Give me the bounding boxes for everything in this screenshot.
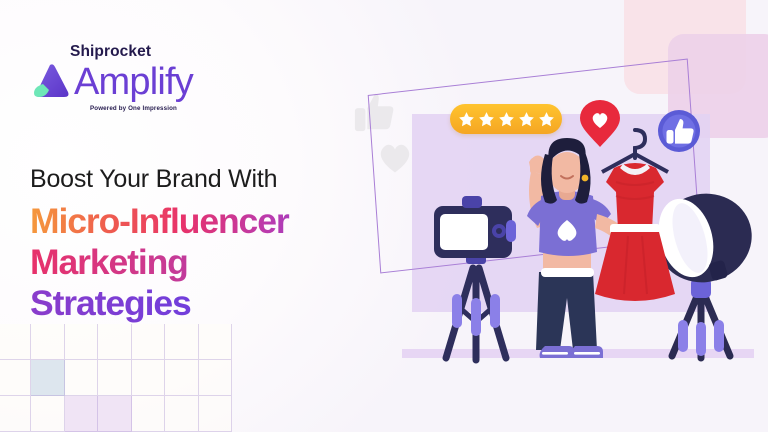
amplify-triangle-mark-icon xyxy=(30,62,72,102)
brand-logo[interactable]: Shiprocket Amplify Powered by One Impres… xyxy=(30,44,220,112)
grid-cell xyxy=(65,360,98,396)
grid-cell xyxy=(98,360,131,396)
headline-line-1: Boost Your Brand With xyxy=(30,165,375,195)
star-icon xyxy=(498,111,515,128)
grid-cell xyxy=(199,396,232,432)
star-icon xyxy=(478,111,495,128)
grid-cell xyxy=(65,324,98,360)
heart-pin-icon xyxy=(580,100,620,148)
grid-cell xyxy=(31,396,64,432)
grid-cell xyxy=(0,396,31,432)
star-icon xyxy=(518,111,535,128)
grid-cell xyxy=(132,396,165,432)
marketing-banner: Shiprocket Amplify Powered by One Impres… xyxy=(0,0,768,432)
grid-cell xyxy=(199,360,232,396)
grid-cell xyxy=(98,324,131,360)
illustration-scene xyxy=(368,72,768,432)
decorative-grid xyxy=(0,324,232,432)
thumbs-up-circle-icon xyxy=(658,110,700,152)
grid-cell xyxy=(132,324,165,360)
star-rating-badge xyxy=(450,104,562,134)
headline-line-4: Strategies xyxy=(30,283,375,324)
grid-cell-blue xyxy=(31,360,64,396)
grid-cell xyxy=(165,324,198,360)
grid-cell xyxy=(31,324,64,360)
grid-cell xyxy=(132,360,165,396)
grid-cell xyxy=(165,360,198,396)
grid-cell-purple xyxy=(65,396,98,432)
star-icon xyxy=(538,111,555,128)
grid-cell xyxy=(0,360,31,396)
headline-line-3: Marketing xyxy=(30,242,375,283)
grid-cell xyxy=(199,324,232,360)
red-dress-on-hanger xyxy=(580,124,690,314)
grid-cell xyxy=(0,324,31,360)
grid-cell-purple xyxy=(98,396,131,432)
brand-name-amplify: Amplify xyxy=(74,63,193,101)
star-icon xyxy=(458,111,475,128)
headline-line-2: Micro-Influencer xyxy=(30,201,375,242)
brand-name-shiprocket: Shiprocket xyxy=(70,44,220,60)
brand-tagline: Powered by One Impression xyxy=(90,105,220,112)
headline-block: Boost Your Brand With Micro-Influencer M… xyxy=(30,165,375,324)
grid-cell xyxy=(165,396,198,432)
